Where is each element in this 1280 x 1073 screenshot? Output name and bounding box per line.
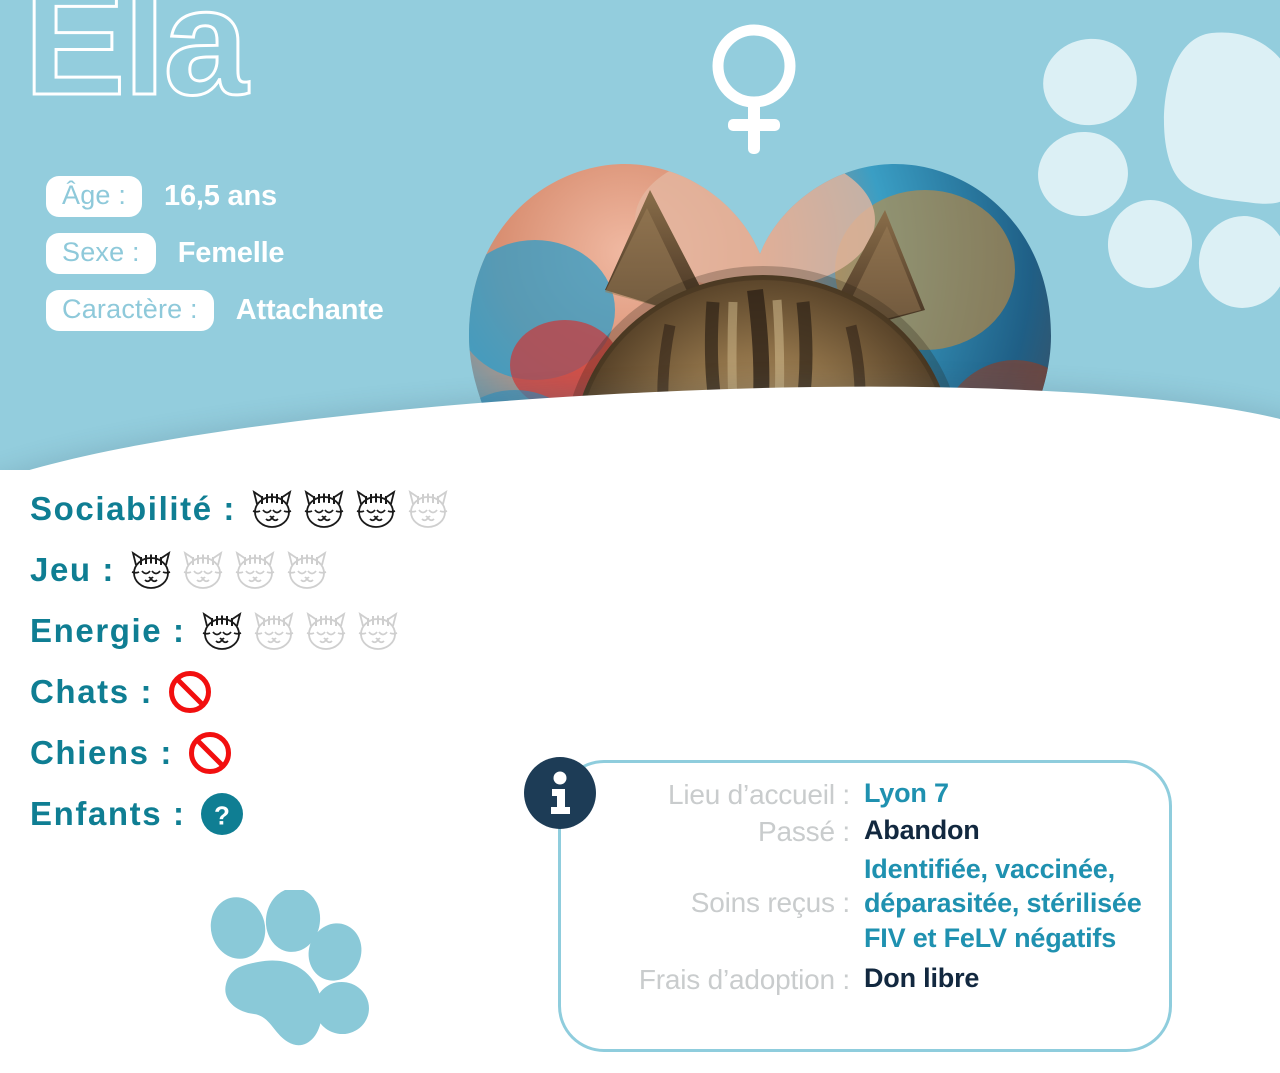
paw-print-decoration-bottom-left: [196, 890, 376, 1060]
trait-label-sociabilite: Sociabilité :: [30, 490, 236, 528]
attribute-label-character: Caractère :: [46, 290, 214, 331]
info-value-fee: Don libre: [864, 961, 979, 995]
info-value-location: Lyon 7: [864, 776, 949, 810]
info-label-care: Soins reçus :: [560, 887, 850, 919]
trait-list: Sociabilité : Jeu :: [30, 478, 456, 844]
info-value-past: Abandon: [864, 813, 980, 847]
prohibition-icon: [167, 669, 213, 715]
info-row-past: Passé : Abandon: [560, 813, 1180, 848]
cat-face-icon-empty: [231, 548, 279, 592]
trait-row-chiens: Chiens :: [30, 722, 456, 783]
cat-face-icon-empty: [354, 609, 402, 653]
info-row-care: Soins reçus : Identifiée, vaccinée, dépa…: [560, 852, 1180, 955]
trait-label-chiens: Chiens :: [30, 734, 173, 772]
trait-rating-sociabilite: [248, 487, 456, 531]
attribute-row-age: Âge : 16,5 ans: [46, 172, 384, 220]
info-row-list: Lieu d’accueil : Lyon 7 Passé : Abandon …: [560, 776, 1180, 998]
page-title: Éla: [24, 0, 246, 118]
trait-row-chats: Chats :: [30, 661, 456, 722]
pet-adoption-card: Éla Âge : 16,5 ans Sexe : Femelle Caract…: [0, 0, 1280, 1073]
attribute-value-sex: Femelle: [178, 237, 285, 270]
trait-row-energie: Energie :: [30, 600, 456, 661]
attribute-value-age: 16,5 ans: [164, 180, 277, 213]
attribute-label-sex: Sexe :: [46, 233, 156, 274]
trait-label-jeu: Jeu :: [30, 551, 115, 589]
attribute-label-age: Âge :: [46, 176, 142, 217]
cat-face-icon-filled: [248, 487, 296, 531]
attribute-value-character: Attachante: [236, 294, 384, 327]
female-gender-icon: [706, 18, 802, 158]
cat-face-icon-filled: [127, 548, 175, 592]
trait-label-enfants: Enfants :: [30, 795, 186, 833]
info-value-care: Identifiée, vaccinée, déparasitée, stéri…: [864, 852, 1142, 955]
info-label-past: Passé :: [560, 813, 850, 848]
attribute-pill-list: Âge : 16,5 ans Sexe : Femelle Caractère …: [46, 172, 384, 343]
cat-face-icon-empty: [404, 487, 452, 531]
cat-face-icon-filled: [300, 487, 348, 531]
trait-row-enfants: Enfants : ?: [30, 783, 456, 844]
attribute-row-sex: Sexe : Femelle: [46, 229, 384, 277]
trait-rating-energie: [198, 609, 406, 653]
cat-face-icon-filled: [352, 487, 400, 531]
cat-face-icon-empty: [179, 548, 227, 592]
cat-face-icon-empty: [283, 548, 331, 592]
trait-rating-jeu: [127, 548, 335, 592]
question-icon: ?: [200, 792, 244, 836]
attribute-row-character: Caractère : Attachante: [46, 286, 384, 334]
cat-face-icon-empty: [302, 609, 350, 653]
prohibition-icon: [187, 730, 233, 776]
trait-label-chats: Chats :: [30, 673, 153, 711]
info-row-fee: Frais d’adoption : Don libre: [560, 961, 1180, 996]
info-label-fee: Frais d’adoption :: [560, 961, 850, 996]
trait-label-energie: Energie :: [30, 612, 186, 650]
info-icon: [524, 757, 596, 829]
trait-row-jeu: Jeu :: [30, 539, 456, 600]
trait-row-sociabilite: Sociabilité :: [30, 478, 456, 539]
info-row-location: Lieu d’accueil : Lyon 7: [560, 776, 1180, 811]
info-label-location: Lieu d’accueil :: [560, 776, 850, 811]
cat-face-icon-filled: [198, 609, 246, 653]
svg-text:?: ?: [214, 800, 230, 830]
cat-face-icon-empty: [250, 609, 298, 653]
